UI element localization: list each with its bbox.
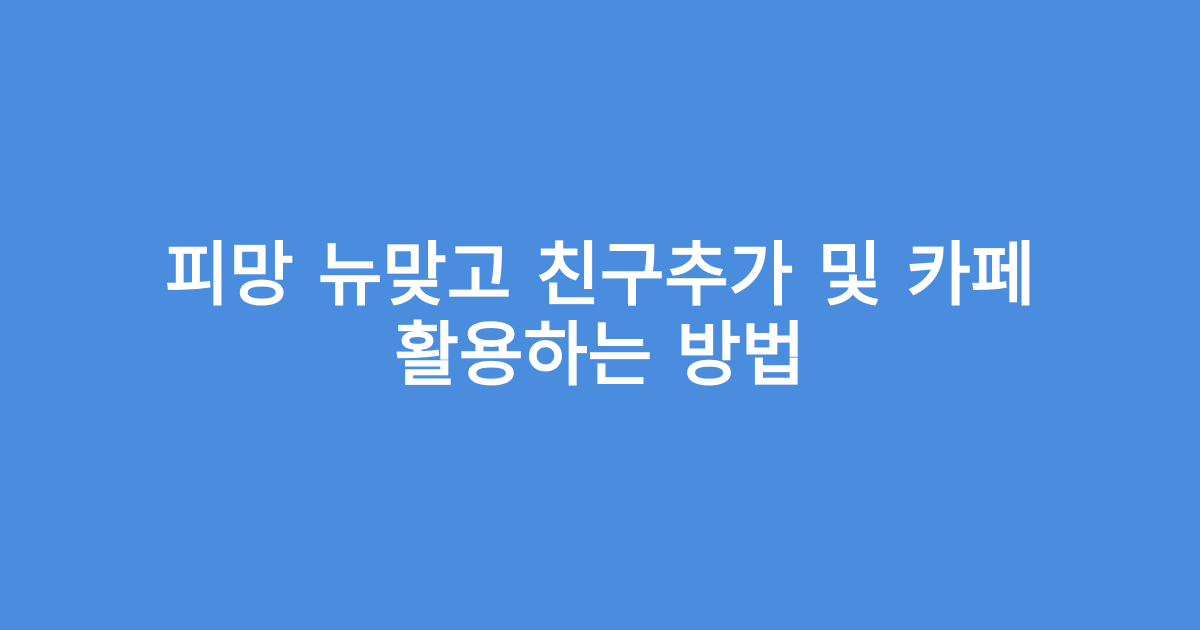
page-title-line-1: 피망 뉴맞고 친구추가 및 카페	[165, 235, 1035, 315]
og-share-card: 피망 뉴맞고 친구추가 및 카페 활용하는 방법	[0, 0, 1200, 630]
page-title: 피망 뉴맞고 친구추가 및 카페 활용하는 방법	[165, 235, 1035, 395]
page-title-line-2: 활용하는 방법	[165, 315, 1035, 395]
title-block: 피망 뉴맞고 친구추가 및 카페 활용하는 방법	[90, 235, 1110, 395]
